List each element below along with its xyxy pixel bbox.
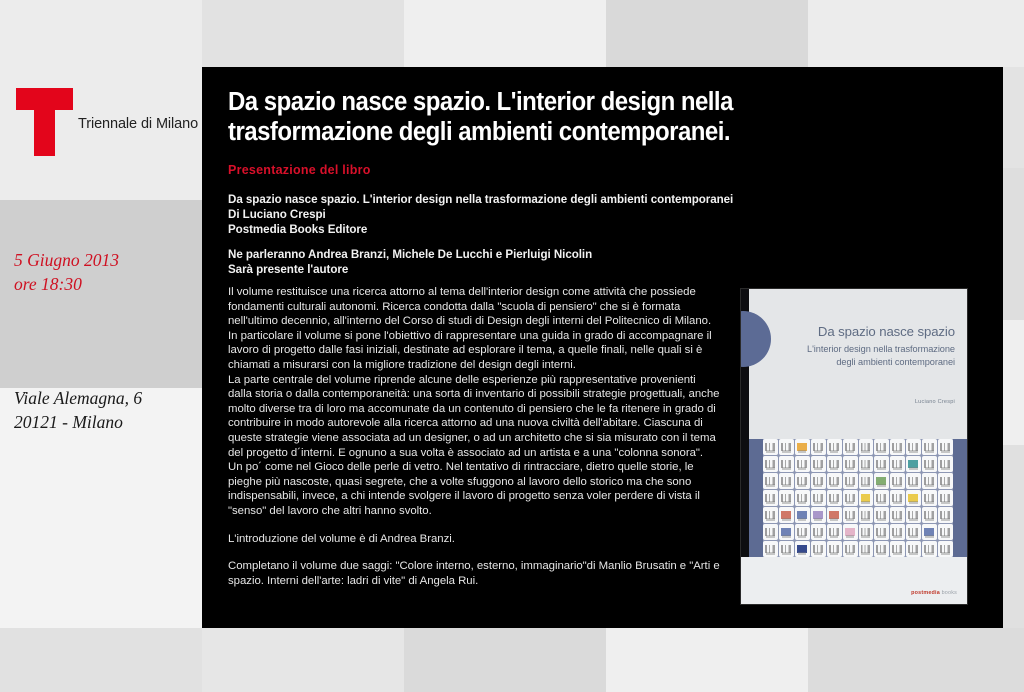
triennale-t-icon [16,88,73,156]
illustration-cell [763,524,778,540]
illustration-cell [795,507,810,523]
cover-footer-band: postmedia books [741,557,967,604]
bg-tile [606,628,808,692]
illustration-cell [795,439,810,455]
event-date: 5 Giugno 2013 ore 18:30 [14,248,119,296]
sidebar-band-footer [0,628,202,692]
illustration-cell [779,439,794,455]
book-cover-image: Da spazio nasce spazio L'interior design… [741,289,967,604]
illustration-cell [843,439,858,455]
illustration-cell [843,541,858,557]
illustration-cell [906,473,921,489]
illustration-cell [811,490,826,506]
content-panel: Da spazio nasce spazio. L'interior desig… [202,67,1003,628]
cover-author: Luciano Crespi [771,399,955,405]
illustration-cell [795,524,810,540]
illustration-cell [906,541,921,557]
illustration-cell [859,456,874,472]
illustration-cell [922,439,937,455]
illustration-cell [859,473,874,489]
cover-circle-graphic [741,311,771,367]
illustration-cell [874,524,889,540]
illustration-cell [906,524,921,540]
illustration-cell [763,507,778,523]
illustration-cell [922,524,937,540]
body-paragraph: Completano il volume due saggi: "Colore … [228,559,720,588]
cover-title-sub: L'interior design nella trasformazione d… [771,343,955,369]
event-address: Viale Alemagna, 6 20121 - Milano [14,386,142,434]
illustration-cell [938,473,953,489]
illustration-cell [859,541,874,557]
bg-tile [808,0,1024,67]
illustration-cell [922,541,937,557]
illustration-cell [779,473,794,489]
illustration-cell [827,524,842,540]
illustration-cell [938,456,953,472]
illustration-cell [779,524,794,540]
cover-title-block: Da spazio nasce spazio L'interior design… [771,323,955,369]
illustration-cell [890,524,905,540]
illustration-cell [811,507,826,523]
illustration-cell [874,473,889,489]
illustration-cell [922,473,937,489]
illustration-cell [938,439,953,455]
illustration-cell [779,456,794,472]
illustration-cell [874,456,889,472]
sidebar: Triennale di Milano 5 Giugno 2013 ore 18… [0,0,202,692]
illustration-cell [811,439,826,455]
book-meta: Da spazio nasce spazio. L'interior desig… [228,192,733,237]
illustration-cell [859,507,874,523]
illustration-cell [779,490,794,506]
illustration-cell [938,507,953,523]
illustration-cell [890,490,905,506]
bg-tile [202,628,404,692]
illustration-cell [874,439,889,455]
illustration-cell [906,490,921,506]
body-paragraph: La parte centrale del volume riprende al… [228,373,720,519]
illustration-cell [938,490,953,506]
illustration-cell [874,507,889,523]
bg-tile [404,628,606,692]
illustration-cell [795,473,810,489]
publisher-logo: postmedia books [911,590,957,596]
illustration-cell [827,473,842,489]
illustration-cell [922,490,937,506]
illustration-cell [827,541,842,557]
illustration-cell [890,541,905,557]
illustration-cell [906,439,921,455]
triennale-logo: Triennale di Milano [16,88,196,156]
body-paragraph: L'introduzione del volume è di Andrea Br… [228,532,720,547]
illustration-cell [763,456,778,472]
cover-illustration [749,439,967,557]
illustration-cell [811,524,826,540]
illustration-cell [843,490,858,506]
illustration-cell [763,473,778,489]
illustration-cell [795,456,810,472]
illustration-cell [843,456,858,472]
illustration-cell [859,490,874,506]
triennale-logo-label: Triennale di Milano [78,116,198,132]
illustration-cell [763,490,778,506]
illustration-cell [874,541,889,557]
illustration-cell [906,507,921,523]
illustration-cell [938,541,953,557]
illustration-cell [827,439,842,455]
illustration-cell [811,541,826,557]
illustration-cell [874,490,889,506]
illustration-cell [843,473,858,489]
illustration-cell [843,507,858,523]
illustration-cell [795,541,810,557]
illustration-cell [843,524,858,540]
illustration-cell [827,490,842,506]
illustration-cell [890,439,905,455]
description-body: Il volume restituisce una ricerca attorn… [228,285,720,588]
publisher-name-secondary: books [940,590,957,596]
page-subtitle: Presentazione del libro [228,163,371,177]
illustration-cell [763,541,778,557]
cover-title-main: Da spazio nasce spazio [771,323,955,340]
illustration-cell [859,524,874,540]
bg-tile [202,0,404,67]
poster-canvas: Triennale di Milano 5 Giugno 2013 ore 18… [0,0,1024,692]
illustration-cell [811,473,826,489]
page-title: Da spazio nasce spazio. L'interior desig… [228,87,886,147]
illustration-cell [890,507,905,523]
illustration-cell [890,456,905,472]
illustration-cell [827,456,842,472]
illustration-cell [763,439,778,455]
illustration-cell [890,473,905,489]
bg-tile [606,0,808,67]
illustration-cell [938,524,953,540]
illustration-cell [827,507,842,523]
illustration-cell [779,507,794,523]
illustration-cell [922,456,937,472]
body-paragraph: Il volume restituisce una ricerca attorn… [228,285,720,373]
illustration-cell [922,507,937,523]
illustration-cell [795,490,810,506]
bg-tile [808,628,1024,692]
illustration-cell [779,541,794,557]
publisher-name-primary: postmedia [911,590,940,596]
speakers-info: Ne parleranno Andrea Branzi, Michele De … [228,247,592,277]
illustration-cell [859,439,874,455]
illustration-cell [811,456,826,472]
illustration-grid [763,439,953,557]
bg-tile [404,0,606,67]
illustration-cell [906,456,921,472]
